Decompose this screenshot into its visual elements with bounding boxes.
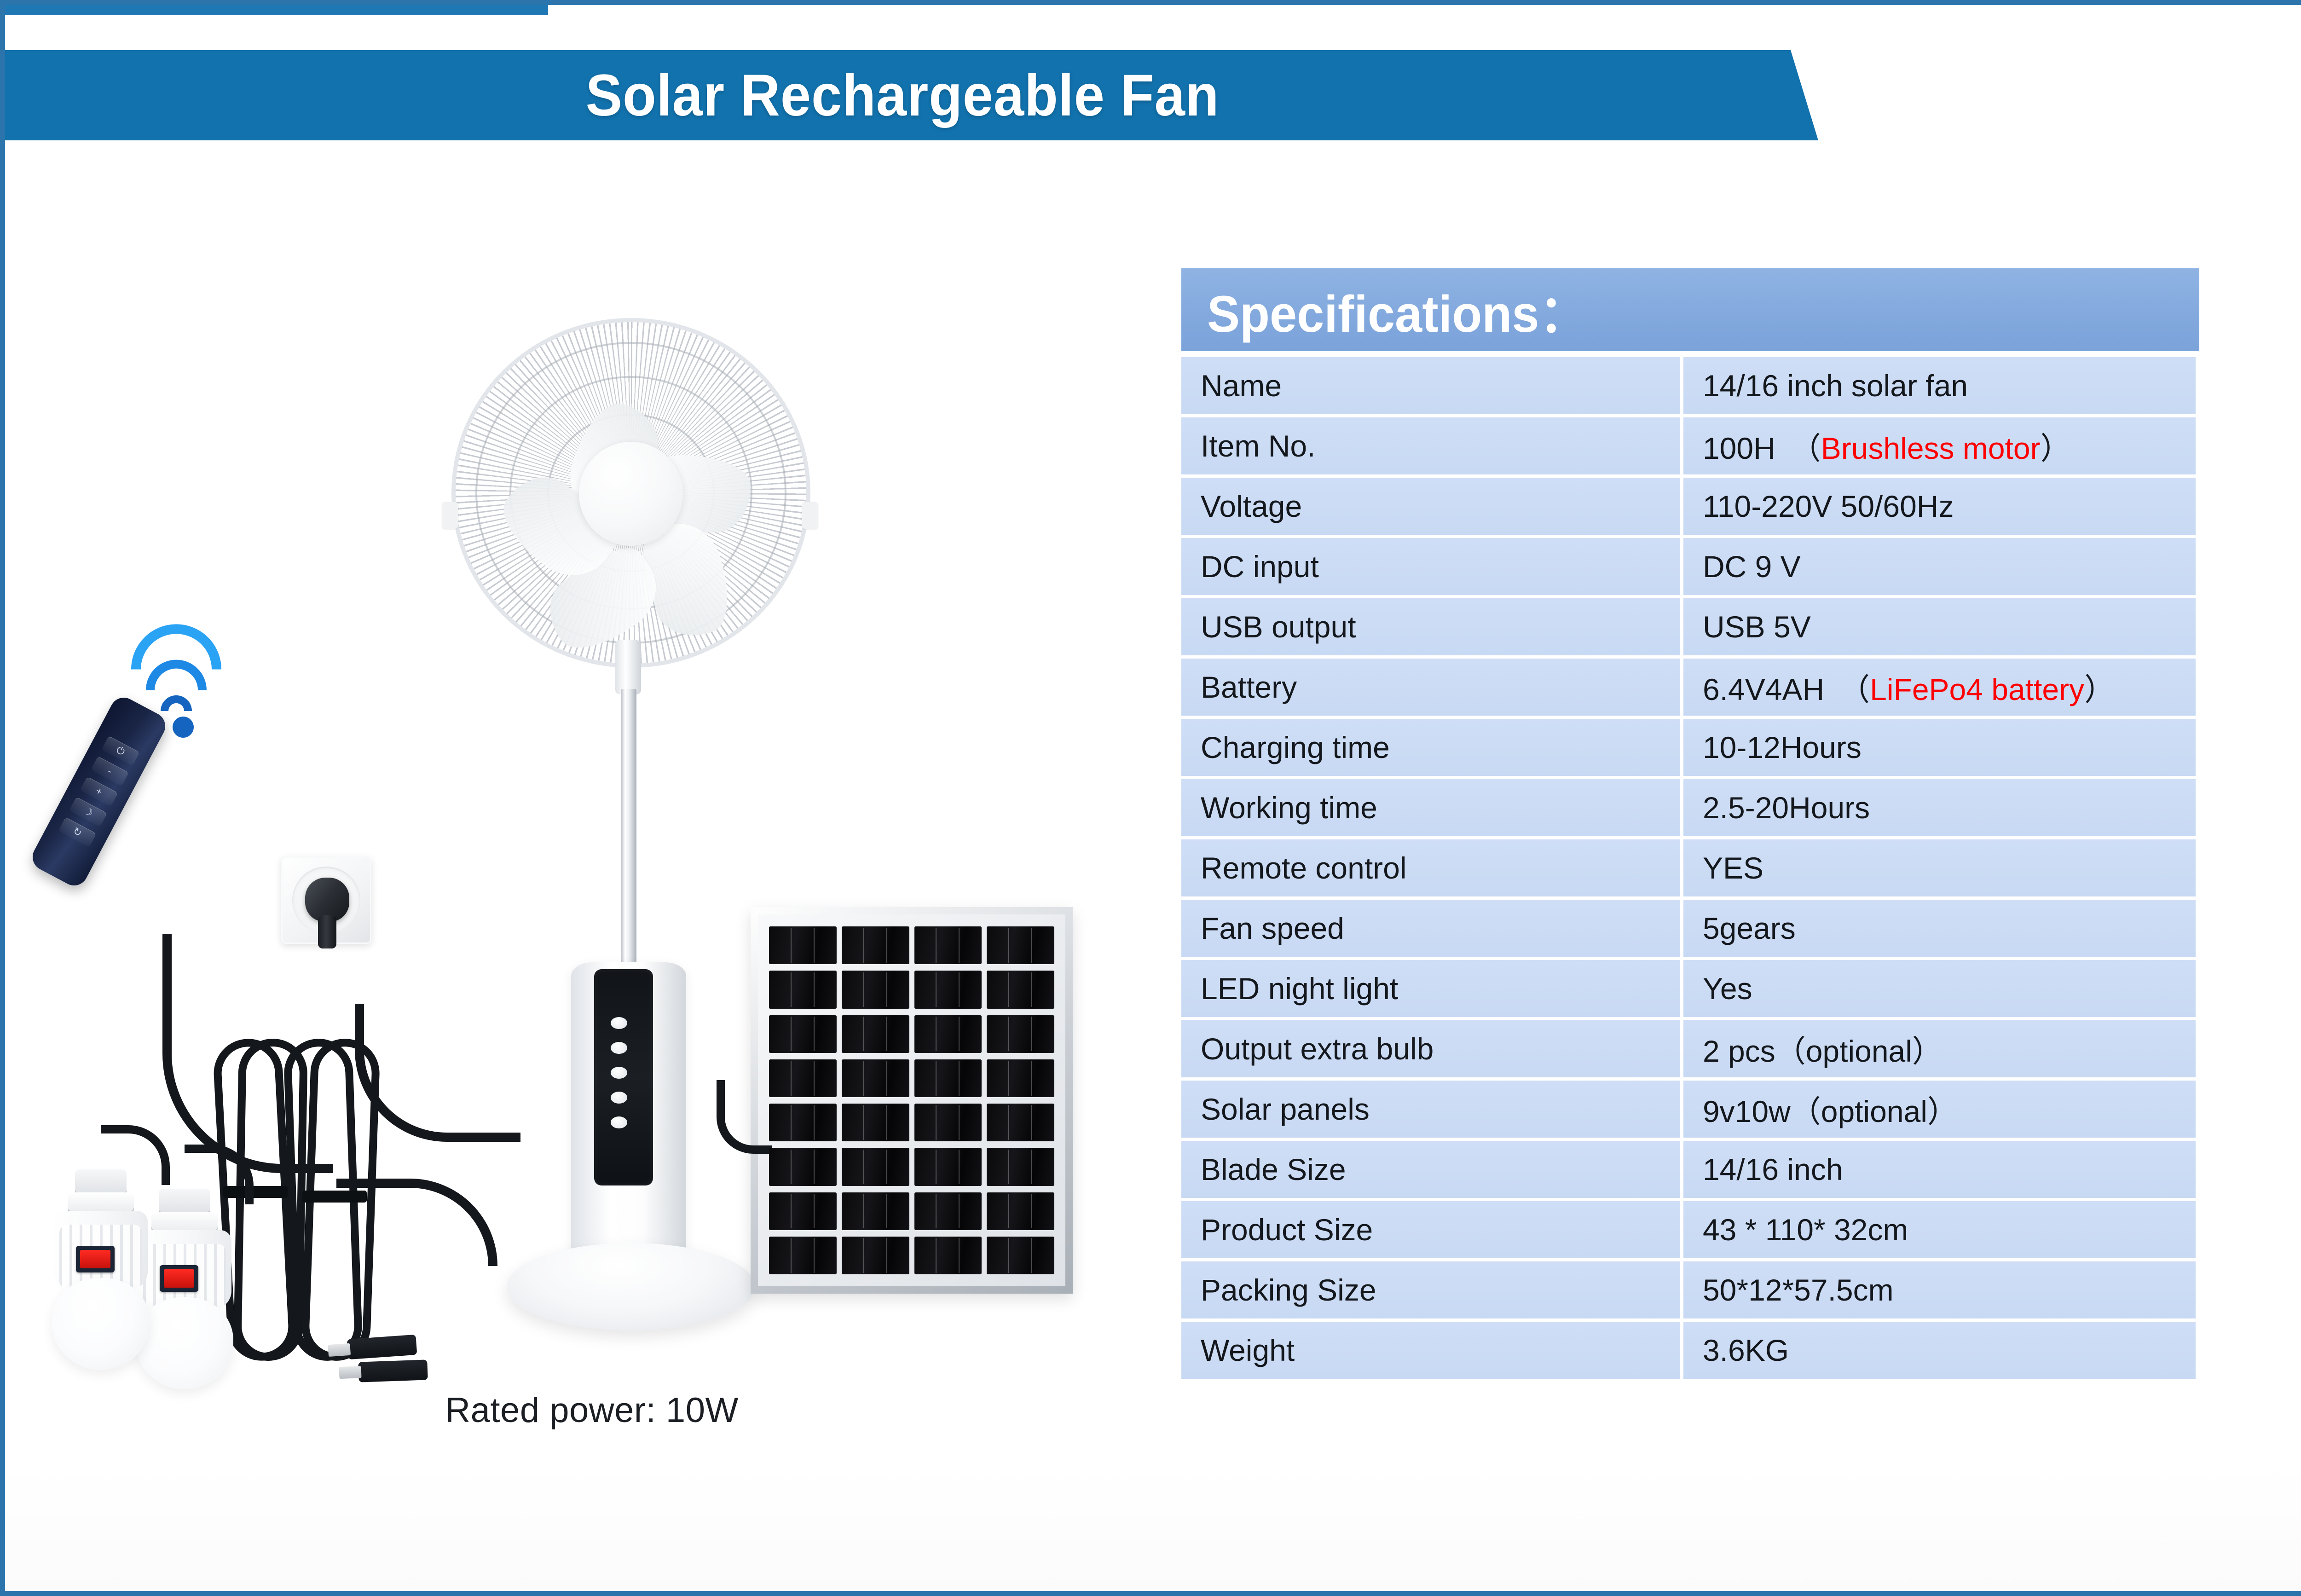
guard-clip-left bbox=[442, 502, 458, 529]
coiled-usb-cables bbox=[220, 1039, 395, 1375]
spec-value: 110-220V 50/60Hz bbox=[1683, 478, 2196, 535]
specifications-header: Specifications： bbox=[1181, 268, 2199, 351]
solar-cell bbox=[987, 1059, 1054, 1097]
spec-key: Blade Size bbox=[1181, 1141, 1683, 1198]
spec-note-paren-open: （ bbox=[1806, 431, 1821, 465]
cable-tie bbox=[302, 1191, 367, 1203]
spec-value: 14/16 inch bbox=[1683, 1141, 2196, 1198]
fan-blades bbox=[485, 351, 777, 636]
speed-indicator-dot bbox=[611, 1042, 627, 1054]
spec-key: Working time bbox=[1181, 779, 1683, 836]
solar-cell bbox=[842, 1148, 909, 1185]
speed-indicator-dot bbox=[611, 1017, 627, 1029]
spec-key: Item No. bbox=[1181, 417, 1683, 474]
spec-key: Product Size bbox=[1181, 1201, 1683, 1258]
bulb-rocker-switch bbox=[76, 1246, 115, 1272]
solar-cell bbox=[769, 1015, 837, 1053]
speed-indicator-dot bbox=[611, 1116, 627, 1128]
solar-cell bbox=[769, 1148, 837, 1185]
spec-key: Name bbox=[1181, 357, 1683, 414]
solar-cell bbox=[842, 1104, 909, 1141]
usb-connector bbox=[358, 1359, 428, 1382]
solar-cell bbox=[842, 1237, 909, 1274]
spec-value: 50*12*57.5cm bbox=[1683, 1261, 2196, 1318]
spec-key: Remote control bbox=[1181, 839, 1683, 896]
table-row: Name14/16 inch solar fan bbox=[1181, 357, 2196, 414]
ir-remote-control: ⏻ - + ☽ ↻ bbox=[28, 693, 170, 890]
spec-key: DC input bbox=[1181, 538, 1683, 595]
table-row: Battery6.4V4AH （LiFePo4 battery） bbox=[1181, 659, 2196, 716]
spec-value: 14/16 inch solar fan bbox=[1683, 357, 2196, 414]
spec-key: Solar panels bbox=[1181, 1081, 1683, 1138]
table-row: Product Size43 * 110* 32cm bbox=[1181, 1201, 2196, 1258]
spec-key: Charging time bbox=[1181, 719, 1683, 776]
remote-control-group: ⏻ - + ☽ ↻ bbox=[60, 636, 318, 921]
solar-cell-row bbox=[769, 1104, 1054, 1141]
solar-cell bbox=[842, 1015, 909, 1053]
solar-cell bbox=[914, 1059, 982, 1097]
spec-value: 2.5-20Hours bbox=[1683, 779, 2196, 836]
table-row: Working time2.5-20Hours bbox=[1181, 779, 2196, 836]
solar-cell bbox=[987, 1192, 1054, 1230]
led-bulb-kit bbox=[33, 1018, 502, 1450]
table-row: DC inputDC 9 V bbox=[1181, 538, 2196, 595]
spec-value-text: 100H bbox=[1703, 431, 1775, 465]
rated-power-caption: Rated power: 10W bbox=[33, 1390, 1151, 1430]
specifications-header-label: Specifications： bbox=[1207, 272, 1588, 347]
specifications-panel: Specifications： Name14/16 inch solar fan… bbox=[1181, 268, 2199, 1382]
spec-value: USB 5V bbox=[1683, 598, 2196, 655]
solar-cell-row bbox=[769, 1192, 1054, 1230]
solar-cell bbox=[842, 926, 909, 964]
table-row: Output extra bulb2 pcs（optional） bbox=[1181, 1020, 2196, 1077]
bulb-cap bbox=[75, 1169, 127, 1194]
fan-telescopic-pole bbox=[621, 689, 636, 983]
table-row: Charging time10-12Hours bbox=[1181, 719, 2196, 776]
solar-cell bbox=[842, 971, 909, 1008]
guard-clip-right bbox=[802, 502, 818, 529]
solar-cell bbox=[987, 926, 1054, 964]
led-bulb bbox=[46, 1169, 155, 1335]
spec-note-highlight: Brushless motor bbox=[1821, 431, 2041, 465]
spec-value: 2 pcs（optional） bbox=[1683, 1020, 2196, 1077]
wireless-signal-icon bbox=[169, 638, 284, 740]
solar-cell-row bbox=[769, 1237, 1054, 1274]
solar-cell bbox=[842, 1059, 909, 1097]
spec-note-paren-open: （ bbox=[1855, 672, 1870, 706]
table-row: USB outputUSB 5V bbox=[1181, 598, 2196, 655]
spec-value: 43 * 110* 32cm bbox=[1683, 1201, 2196, 1258]
solar-panel bbox=[751, 907, 1073, 1294]
signal-origin-dot bbox=[173, 717, 194, 738]
spec-value: Yes bbox=[1683, 960, 2196, 1017]
solar-cell-row bbox=[769, 926, 1054, 964]
solar-cell bbox=[914, 1237, 982, 1274]
spec-note-paren-close: ） bbox=[2084, 672, 2115, 706]
table-row: Solar panels9v10w（optional） bbox=[1181, 1081, 2196, 1138]
solar-cell bbox=[914, 1192, 982, 1230]
solar-cell bbox=[914, 926, 982, 964]
solar-cell bbox=[769, 1104, 837, 1141]
spec-value: 6.4V4AH （LiFePo4 battery） bbox=[1683, 659, 2196, 716]
page-title: Solar Rechargeable Fan bbox=[68, 50, 1737, 140]
bulb-cap bbox=[159, 1189, 210, 1214]
fan-control-panel bbox=[594, 969, 653, 1185]
bulb-rocker-switch bbox=[160, 1265, 198, 1292]
usb-connector bbox=[347, 1335, 417, 1359]
spec-key: Packing Size bbox=[1181, 1261, 1683, 1318]
product-photo-composite: ⏻ - + ☽ ↻ bbox=[33, 171, 1151, 1542]
fan-base-plate bbox=[507, 1243, 755, 1330]
spec-value: 9v10w（optional） bbox=[1683, 1081, 2196, 1138]
spec-note-paren-close: ） bbox=[2041, 431, 2071, 465]
solar-cell bbox=[987, 1104, 1054, 1141]
table-row: Fan speed5gears bbox=[1181, 900, 2196, 957]
table-row: Item No.100H （Brushless motor） bbox=[1181, 417, 2196, 474]
solar-cell bbox=[769, 1237, 837, 1274]
spec-value: 5gears bbox=[1683, 900, 2196, 957]
specifications-table: Name14/16 inch solar fanItem No.100H （Br… bbox=[1181, 354, 2196, 1382]
solar-cell bbox=[987, 1237, 1054, 1274]
spec-key: USB output bbox=[1181, 598, 1683, 655]
product-spec-page: Solar Rechargeable Fan bbox=[0, 0, 2301, 1596]
fan-hub bbox=[579, 442, 683, 546]
spec-key: Battery bbox=[1181, 659, 1683, 716]
speed-indicator-dot bbox=[611, 1092, 627, 1104]
solar-cell bbox=[914, 1015, 982, 1053]
spec-value: 3.6KG bbox=[1683, 1322, 2196, 1379]
solar-cell bbox=[769, 1192, 837, 1230]
solar-cell-row bbox=[769, 1148, 1054, 1185]
solar-cell bbox=[769, 926, 837, 964]
table-row: Remote controlYES bbox=[1181, 839, 2196, 896]
banner-accent-strip bbox=[0, 3, 548, 15]
spec-key: LED night light bbox=[1181, 960, 1683, 1017]
spec-value: DC 9 V bbox=[1683, 538, 2196, 595]
solar-cell bbox=[769, 971, 837, 1008]
solar-cell bbox=[769, 1059, 837, 1097]
table-row: Voltage110-220V 50/60Hz bbox=[1181, 478, 2196, 535]
solar-cell-row bbox=[769, 971, 1054, 1008]
table-row: Packing Size50*12*57.5cm bbox=[1181, 1261, 2196, 1318]
spec-value-text: 6.4V4AH bbox=[1703, 672, 1824, 706]
solar-cell-row bbox=[769, 1059, 1054, 1097]
spec-key: Voltage bbox=[1181, 478, 1683, 535]
solar-cell-row bbox=[769, 1015, 1054, 1053]
spec-note-highlight: LiFePo4 battery bbox=[1870, 672, 2084, 706]
spec-value: 100H （Brushless motor） bbox=[1683, 417, 2196, 474]
table-row: Weight3.6KG bbox=[1181, 1322, 2196, 1379]
spec-value: 10-12Hours bbox=[1683, 719, 2196, 776]
solar-cell bbox=[842, 1192, 909, 1230]
bulb-diffuser-globe bbox=[52, 1278, 150, 1370]
solar-cell bbox=[914, 971, 982, 1008]
fan-tilt-neck bbox=[615, 640, 641, 694]
spec-key: Output extra bulb bbox=[1181, 1020, 1683, 1077]
speed-indicator-dot bbox=[611, 1067, 627, 1079]
solar-cell bbox=[987, 1015, 1054, 1053]
solar-cell bbox=[914, 1104, 982, 1141]
table-row: Blade Size14/16 inch bbox=[1181, 1141, 2196, 1198]
table-row: LED night lightYes bbox=[1181, 960, 2196, 1017]
solar-cell bbox=[914, 1148, 982, 1185]
spec-key: Fan speed bbox=[1181, 900, 1683, 957]
spec-key: Weight bbox=[1181, 1322, 1683, 1379]
solar-cell bbox=[987, 1148, 1054, 1185]
spec-value: YES bbox=[1683, 839, 2196, 896]
solar-cell bbox=[987, 971, 1054, 1008]
wall-socket-plate bbox=[281, 856, 371, 944]
